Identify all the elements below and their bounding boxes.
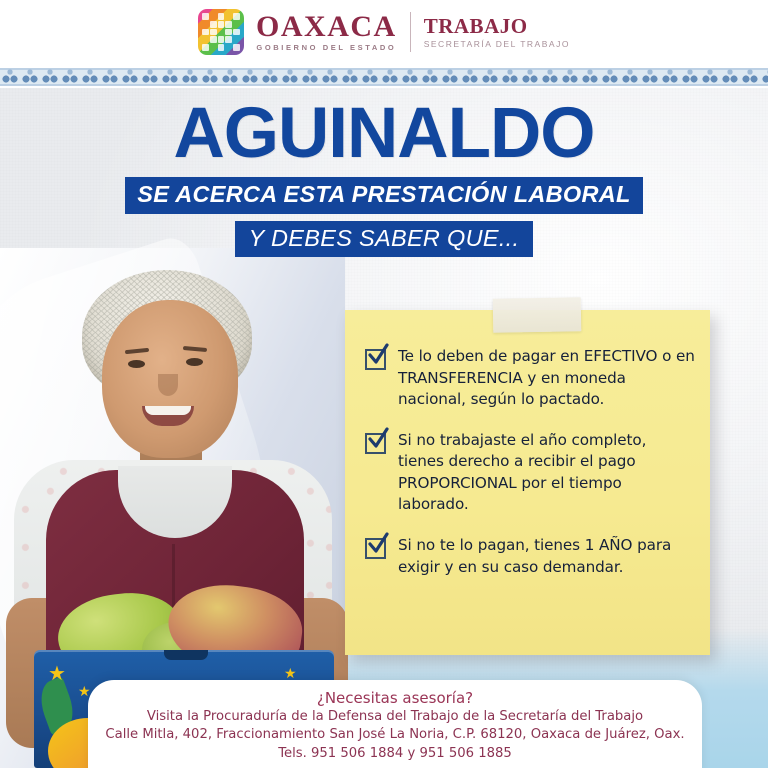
embroidery-pattern	[0, 68, 768, 86]
list-item: Te lo deben de pagar en EFECTIVO o en TR…	[365, 346, 695, 411]
dept-name: TRABAJO	[424, 16, 570, 37]
checkbox-checked-icon	[365, 538, 387, 560]
checkbox-checked-icon	[365, 349, 387, 371]
header-bar: OAXACA GOBIERNO DEL ESTADO TRABAJO SECRE…	[0, 0, 768, 64]
crate-star-icon: ★	[48, 664, 66, 684]
nose	[158, 374, 178, 396]
state-name: OAXACA	[256, 12, 397, 42]
crate-star-icon: ★	[284, 666, 297, 680]
poster-canvas: OAXACA GOBIERNO DEL ESTADO TRABAJO SECRE…	[0, 0, 768, 768]
masking-tape-icon	[493, 297, 582, 333]
dept-subtitle: SECRETARÍA DEL TRABAJO	[424, 40, 570, 49]
state-brand: OAXACA GOBIERNO DEL ESTADO	[256, 12, 397, 52]
dept-brand: TRABAJO SECRETARÍA DEL TRABAJO	[424, 16, 570, 49]
subtitle-bar-secondary: Y DEBES SABER QUE...	[235, 221, 534, 258]
list-item-text: Si no trabajaste el año completo, tienes…	[398, 430, 695, 516]
brand-divider	[410, 12, 411, 52]
subtitle-bar-primary: SE ACERCA ESTA PRESTACIÓN LABORAL	[125, 177, 642, 214]
list-item: Si no trabajaste el año completo, tienes…	[365, 430, 695, 516]
footer-line-office: Visita la Procuraduría de la Defensa del…	[88, 708, 702, 726]
embroidery-border	[0, 64, 768, 88]
oaxaca-grid-logo-icon	[198, 9, 244, 55]
sticky-note: Te lo deben de pagar en EFECTIVO o en TR…	[345, 310, 710, 655]
footer-line-address: Calle Mitla, 402, Fraccionamiento San Jo…	[88, 726, 702, 744]
list-item: Si no te lo pagan, tienes 1 AÑO para exi…	[365, 535, 695, 578]
page-title: AGUINALDO	[0, 100, 768, 167]
eye-left	[128, 360, 145, 368]
eye-right	[186, 358, 203, 366]
title-block: AGUINALDO SE ACERCA ESTA PRESTACIÓN LABO…	[0, 100, 768, 257]
list-item-text: Si no te lo pagan, tienes 1 AÑO para exi…	[398, 535, 695, 578]
checkbox-checked-icon	[365, 433, 387, 455]
header-brand-group: OAXACA GOBIERNO DEL ESTADO TRABAJO SECRE…	[198, 9, 570, 55]
footer-line-phones: Tels. 951 506 1884 y 951 506 1885	[88, 745, 702, 763]
benefits-list: Te lo deben de pagar en EFECTIVO o en TR…	[365, 346, 695, 578]
crate-notch	[164, 650, 208, 660]
footer-heading: ¿Necesitas asesoría?	[88, 689, 702, 708]
brand-text-block: OAXACA GOBIERNO DEL ESTADO TRABAJO SECRE…	[256, 12, 570, 52]
state-subtitle: GOBIERNO DEL ESTADO	[256, 44, 397, 52]
contact-footer: ¿Necesitas asesoría? Visita la Procuradu…	[88, 680, 702, 768]
list-item-text: Te lo deben de pagar en EFECTIVO o en TR…	[398, 346, 695, 411]
